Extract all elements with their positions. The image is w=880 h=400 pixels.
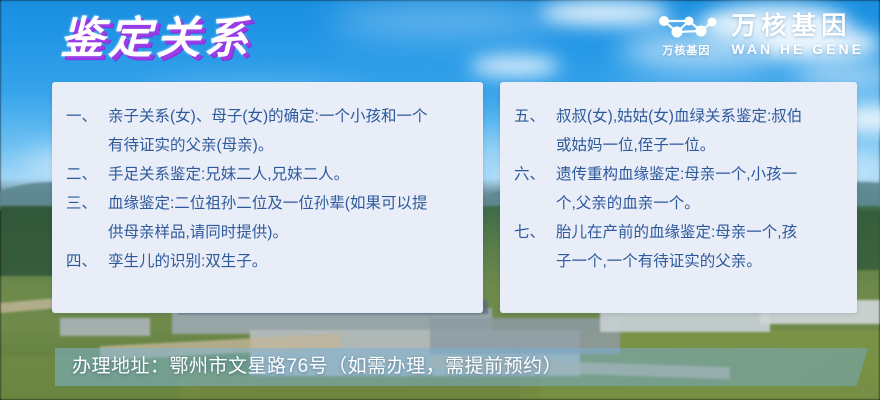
service-item-number: 一、: [66, 104, 108, 130]
brand-mark: 万核基因: [655, 13, 717, 57]
service-item-text: 有待证实的父亲(母亲)。: [108, 133, 469, 159]
service-item-text: 供母亲样品,请同时提供)。: [108, 220, 469, 246]
service-item-text: 子一个,一个有待证实的父亲。: [556, 249, 843, 275]
cloud: [330, 8, 560, 34]
service-item-text: 胎儿在产前的血缘鉴定:母亲一个,孩: [556, 220, 843, 246]
service-item-number: 五、: [514, 104, 556, 130]
promo-poster: 鉴定关系: [0, 0, 880, 400]
service-list-item: 三、血缘鉴定:二位祖孙二位及一位孙辈(如果可以提: [66, 191, 469, 217]
brand-name-en: WAN HE GENE: [731, 41, 864, 57]
service-list-item: 三、供母亲样品,请同时提供)。: [66, 220, 469, 246]
footer-address: 办理地址：鄂州市文星路76号（如需办理，需提前预约）: [72, 352, 862, 382]
service-item-number: 三、: [66, 191, 108, 217]
brand-wordmark: 万核基因 WAN HE GENE: [731, 12, 864, 57]
service-item-text: 手足关系鉴定:兄妹二人,兄妹二人。: [108, 162, 469, 188]
service-list-item: 一、有待证实的父亲(母亲)。: [66, 133, 469, 159]
service-item-text: 叔叔(女),姑姑(女)血绿关系鉴定:叔伯: [556, 104, 843, 130]
service-list-item: 二、手足关系鉴定:兄妹二人,兄妹二人。: [66, 162, 469, 188]
service-list-item: 五、叔叔(女),姑姑(女)血绿关系鉴定:叔伯: [514, 104, 843, 130]
service-item-text: 孪生儿的识别:双生子。: [108, 249, 469, 275]
service-list-item: 五、或姑妈一位,侄子一位。: [514, 133, 843, 159]
service-list-panel-left: 一、亲子关系(女)、母子(女)的确定:一个小孩和一个一、有待证实的父亲(母亲)。…: [52, 82, 483, 313]
dna-molecule-icon: [655, 13, 717, 43]
service-item-number: 六、: [514, 162, 556, 188]
service-list-item: 七、胎儿在产前的血缘鉴定:母亲一个,孩: [514, 220, 843, 246]
brand-name-cn: 万核基因: [731, 12, 851, 40]
service-list-item: 七、子一个,一个有待证实的父亲。: [514, 249, 843, 275]
brand-logo: 万核基因 万核基因 WAN HE GENE: [655, 12, 864, 57]
service-item-text: 亲子关系(女)、母子(女)的确定:一个小孩和一个: [108, 104, 469, 130]
service-item-number: 七、: [514, 220, 556, 246]
service-item-number: 二、: [66, 162, 108, 188]
service-list-panel-right: 五、叔叔(女),姑姑(女)血绿关系鉴定:叔伯五、或姑妈一位,侄子一位。六、遗传重…: [500, 82, 857, 313]
service-list-item: 六、个,父亲的血亲一个。: [514, 191, 843, 217]
brand-mark-label: 万核基因: [662, 45, 710, 57]
service-item-text: 或姑妈一位,侄子一位。: [556, 133, 843, 159]
plant-building: [60, 318, 150, 336]
service-item-number: 四、: [66, 249, 108, 275]
service-list-item: 六、遗传重构血缘鉴定:母亲一个,小孩一: [514, 162, 843, 188]
cloud: [470, 56, 560, 76]
service-item-text: 血缘鉴定:二位祖孙二位及一位孙辈(如果可以提: [108, 191, 469, 217]
service-item-text: 遗传重构血缘鉴定:母亲一个,小孩一: [556, 162, 843, 188]
page-title: 鉴定关系: [60, 14, 252, 64]
service-list-item: 一、亲子关系(女)、母子(女)的确定:一个小孩和一个: [66, 104, 469, 130]
service-item-text: 个,父亲的血亲一个。: [556, 191, 843, 217]
service-list-item: 四、孪生儿的识别:双生子。: [66, 249, 469, 275]
